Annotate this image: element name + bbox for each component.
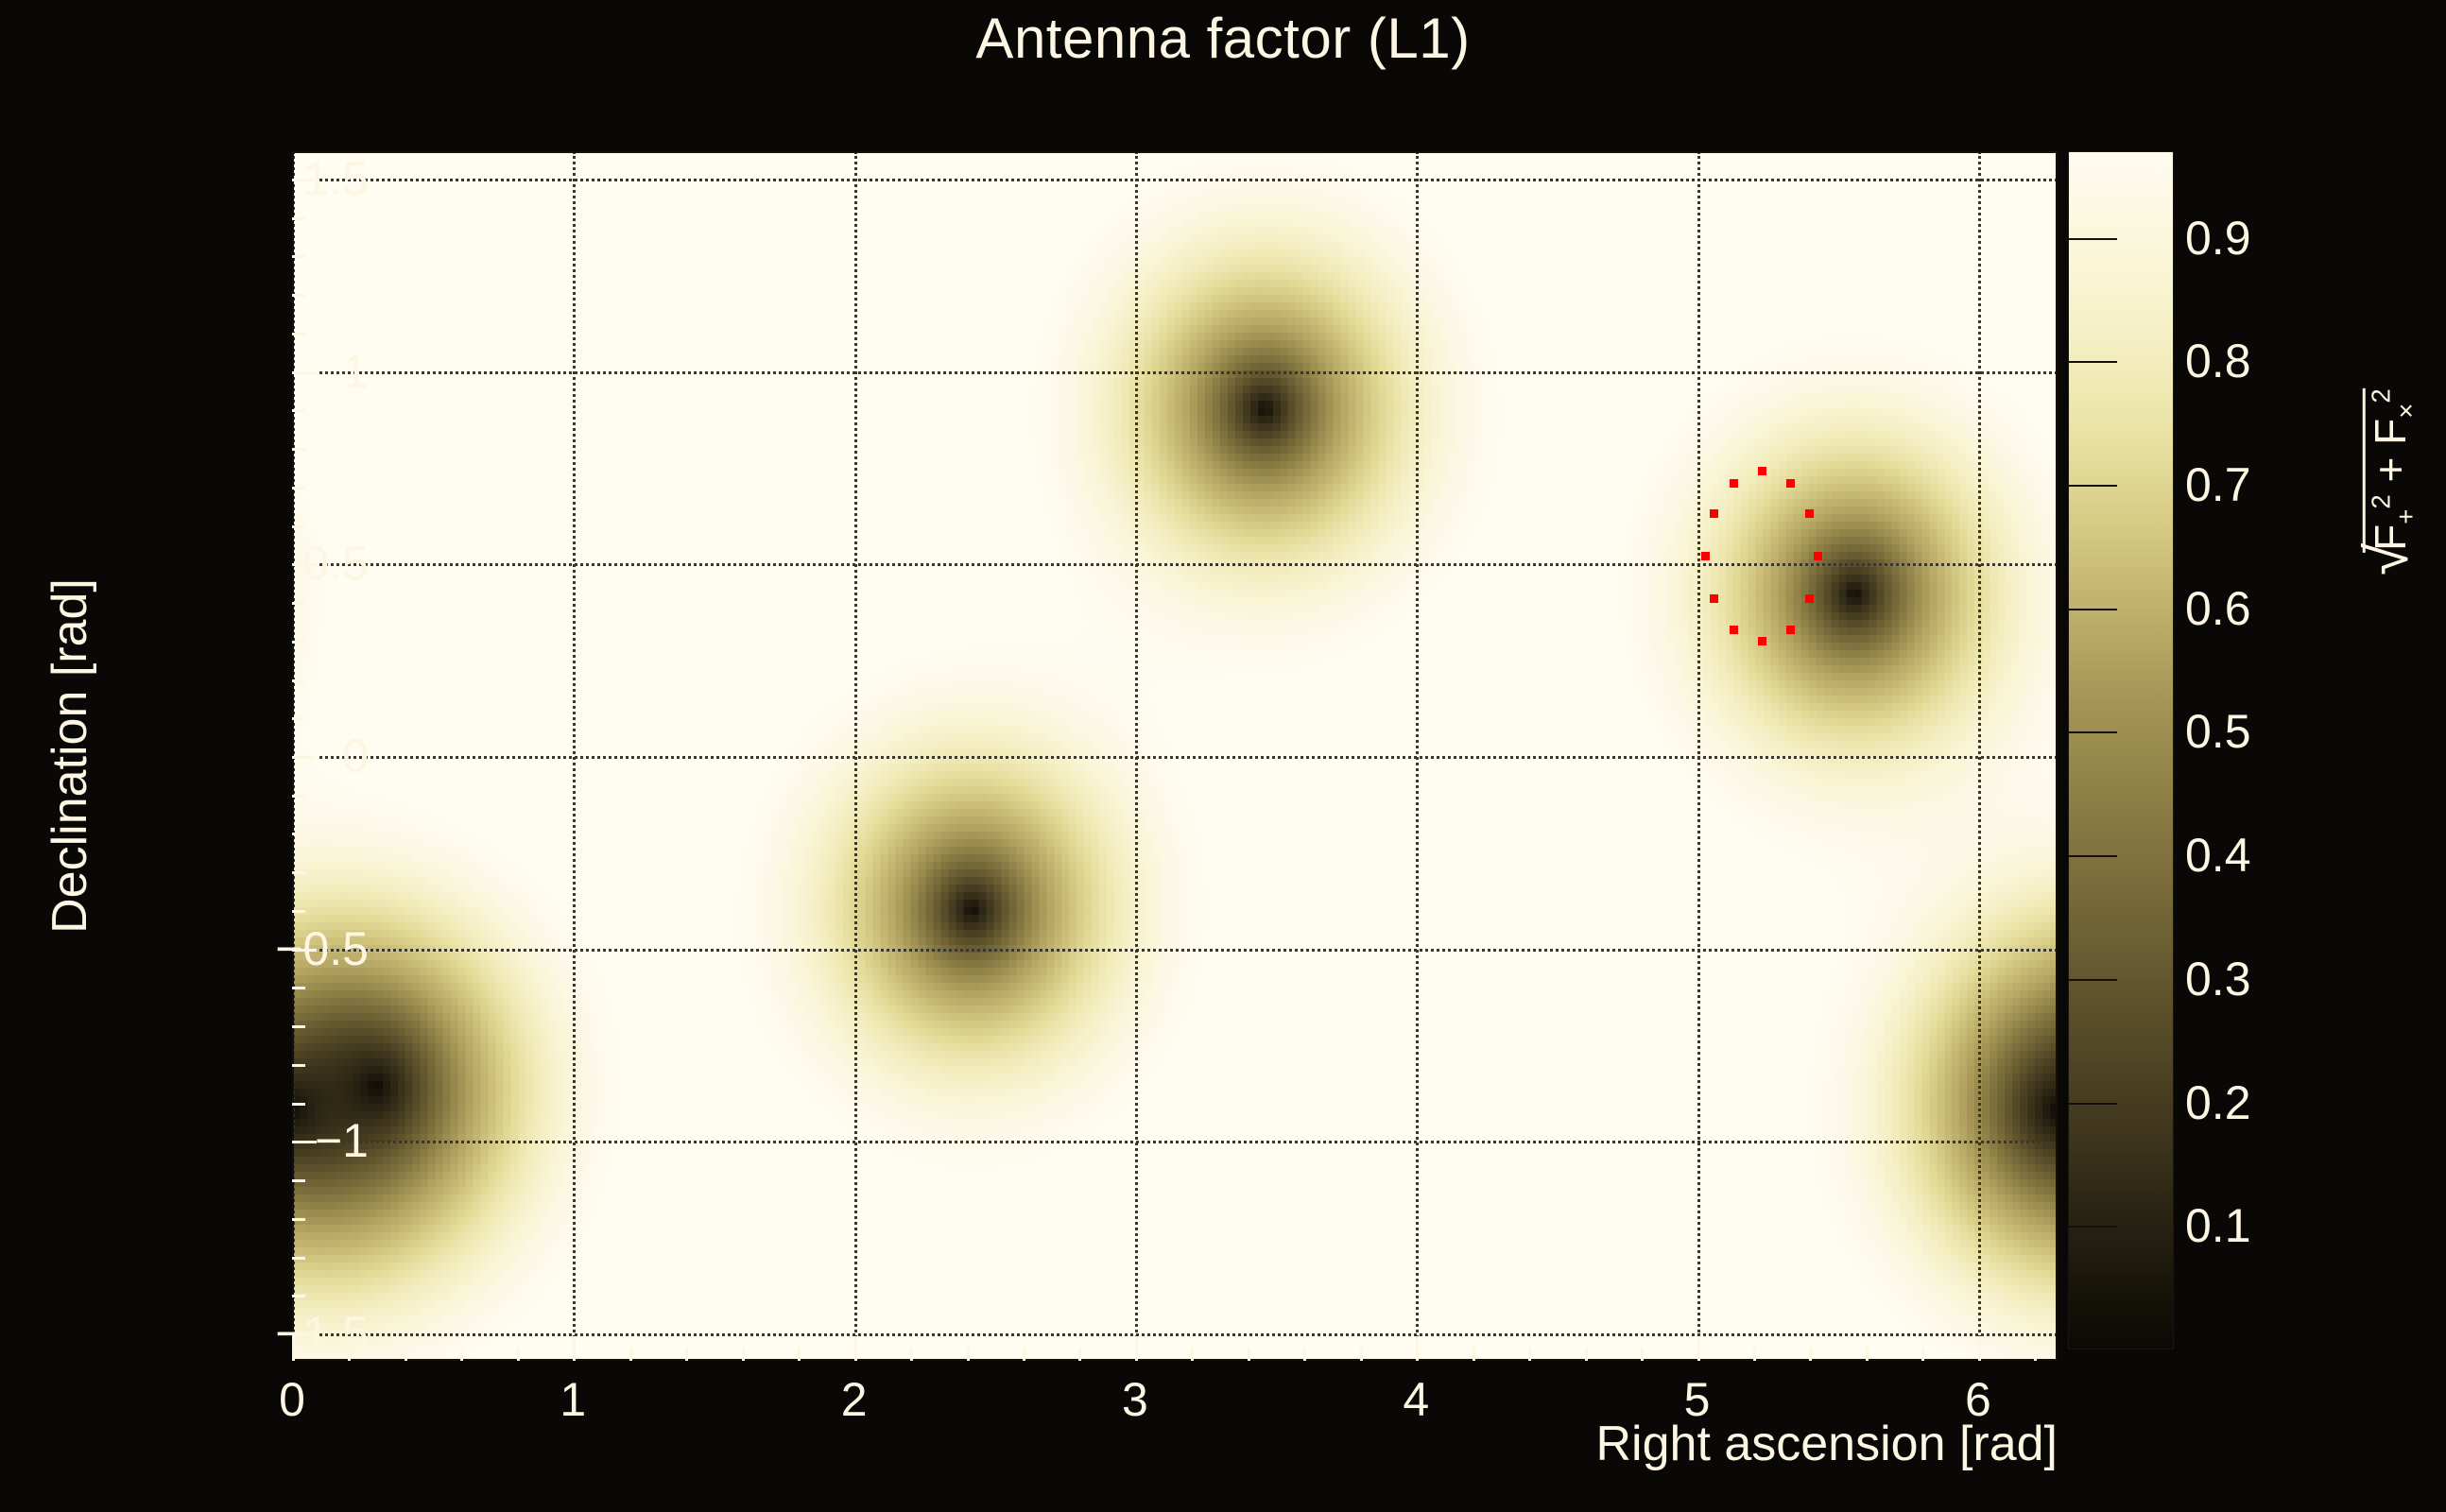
x-tick-minor <box>629 1348 632 1361</box>
y-tick-minor <box>292 871 305 874</box>
y-tick-label: 0 <box>123 729 369 783</box>
x-tick-minor <box>348 1348 351 1361</box>
y-tick-minor <box>292 333 305 335</box>
localization-marker <box>1730 626 1738 634</box>
colorbar-tick <box>2068 731 2117 733</box>
colorbar-tick-label: 0.6 <box>2185 581 2251 636</box>
y-tick-label: −1.5 <box>123 1306 369 1361</box>
y-tick-label: 0.5 <box>123 536 369 591</box>
x-tick <box>854 1336 857 1361</box>
y-tick-minor <box>292 1179 305 1182</box>
x-tick-minor <box>1248 1348 1250 1361</box>
x-tick-minor <box>1809 1348 1812 1361</box>
y-tick-label: 1 <box>123 344 369 399</box>
colorbar-title-text: F+2 + F×2 <box>2365 388 2420 576</box>
y-axis-title-text: Declination [rad] <box>42 578 98 934</box>
localization-marker <box>1814 552 1822 560</box>
y-tick-minor <box>292 1103 305 1106</box>
colorbar-formula: F+2 + F×2 <box>2366 388 2415 551</box>
y-tick-minor <box>292 641 305 644</box>
y-tick-minor <box>292 1295 305 1297</box>
colorbar-tick-label: 0.7 <box>2185 457 2251 512</box>
x-tick-minor <box>517 1348 520 1361</box>
colorbar-tick-label: 0.9 <box>2185 211 2251 266</box>
x-tick-minor <box>1866 1348 1869 1361</box>
x-tick-minor <box>685 1348 688 1361</box>
x-tick-minor <box>1641 1348 1644 1361</box>
x-tick-minor <box>967 1348 970 1361</box>
y-tick-minor <box>292 1218 305 1221</box>
colorbar-tick-label: 0.2 <box>2185 1075 2251 1130</box>
x-tick-minor <box>1023 1348 1025 1361</box>
page-title: Antenna factor (L1) <box>0 6 2446 71</box>
x-tick-minor <box>1191 1348 1194 1361</box>
colorbar-tick <box>2068 609 2117 610</box>
localization-marker <box>1758 467 1766 475</box>
x-tick <box>292 1336 295 1361</box>
x-tick <box>573 1336 576 1361</box>
x-tick <box>1978 1336 1981 1361</box>
colorbar-tick-label: 0.5 <box>2185 704 2251 759</box>
localization-marker <box>1805 594 1814 603</box>
colorbar-tick <box>2068 855 2117 857</box>
colorbar-tick <box>2068 1226 2117 1228</box>
y-tick-minor <box>292 987 305 989</box>
y-tick-minor <box>292 1257 305 1260</box>
x-tick-minor <box>1078 1348 1081 1361</box>
plot-canvas: Antenna factor (L1) 1.510.50−0.5−1−1.501… <box>0 0 2446 1512</box>
y-tick-minor <box>292 255 305 258</box>
x-tick-minor <box>1360 1348 1363 1361</box>
colorbar-title: F+2 + F×2 <box>2299 151 2412 813</box>
x-tick-minor <box>1585 1348 1588 1361</box>
localization-marker <box>1758 637 1766 645</box>
colorbar-tick <box>2068 361 2117 363</box>
y-tick-label: −1 <box>123 1113 369 1168</box>
y-tick-minor <box>292 833 305 835</box>
heatmap-image <box>292 151 2058 1361</box>
localization-marker <box>1710 594 1718 603</box>
localization-marker <box>1805 509 1814 518</box>
y-axis-title: Declination [rad] <box>42 151 98 1361</box>
y-tick-minor <box>292 717 305 720</box>
x-tick-minor <box>405 1348 407 1361</box>
y-tick-minor <box>292 795 305 798</box>
colorbar-tick-label: 0.3 <box>2185 952 2251 1006</box>
x-tick-minor <box>2034 1348 2037 1361</box>
x-axis-title: Right ascension [rad] <box>0 1416 2058 1472</box>
y-tick-minor <box>292 409 305 412</box>
y-tick-minor <box>292 602 305 605</box>
y-tick-minor <box>292 525 305 528</box>
sqrt-icon: F+2 + F×2 <box>2365 388 2420 576</box>
y-tick-minor <box>292 1064 305 1067</box>
colorbar-tick-label: 0.8 <box>2185 334 2251 388</box>
y-tick-minor <box>292 910 305 913</box>
colorbar-tick <box>2068 485 2117 487</box>
y-tick-minor <box>292 1025 305 1028</box>
x-tick-minor <box>910 1348 913 1361</box>
colorbar-tick <box>2068 238 2117 240</box>
localization-marker <box>1730 479 1738 488</box>
x-tick-minor <box>798 1348 801 1361</box>
x-tick-minor <box>460 1348 463 1361</box>
y-tick-minor <box>292 294 305 297</box>
y-tick-label: 1.5 <box>123 151 369 206</box>
colorbar-gradient[interactable] <box>2068 151 2174 1349</box>
x-tick <box>1697 1336 1700 1361</box>
colorbar-tick <box>2068 979 2117 981</box>
colorbar-tick-label: 0.4 <box>2185 828 2251 883</box>
localization-marker <box>1710 509 1718 518</box>
x-tick-minor <box>742 1348 745 1361</box>
y-tick-minor <box>292 487 305 490</box>
heatmap-pad[interactable] <box>292 151 2058 1361</box>
x-tick-minor <box>1753 1348 1756 1361</box>
colorbar-tick-label: 0.1 <box>2185 1198 2251 1253</box>
localization-marker <box>1786 626 1795 634</box>
x-tick-minor <box>1528 1348 1531 1361</box>
x-tick-minor <box>1303 1348 1306 1361</box>
colorbar-tick <box>2068 1103 2117 1105</box>
y-tick-minor <box>292 217 305 220</box>
y-tick-label: −0.5 <box>123 921 369 976</box>
x-tick-minor <box>1473 1348 1475 1361</box>
y-tick-minor <box>292 448 305 451</box>
x-tick <box>1135 1336 1138 1361</box>
x-tick <box>1416 1336 1419 1361</box>
localization-marker <box>1701 552 1710 560</box>
y-tick-minor <box>292 679 305 682</box>
x-tick-minor <box>1921 1348 1924 1361</box>
localization-marker <box>1786 479 1795 488</box>
